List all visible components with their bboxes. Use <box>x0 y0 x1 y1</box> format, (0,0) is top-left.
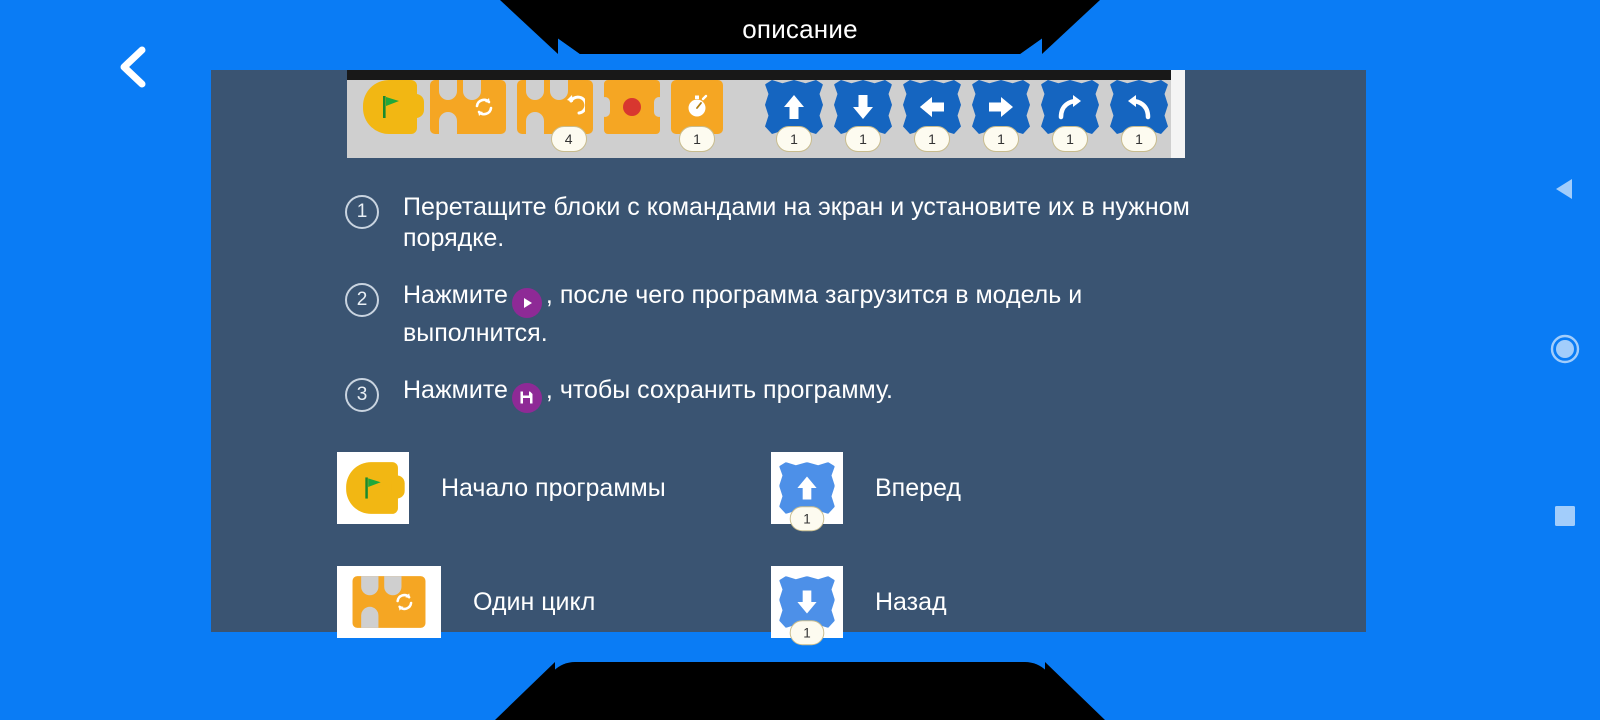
description-panel: 4 <box>211 70 1366 632</box>
palette-move-right-block[interactable]: 1 <box>972 80 1030 134</box>
block-badge: 1 <box>1052 126 1088 152</box>
chevron-left-icon <box>100 36 164 98</box>
legend-card: 1 <box>771 566 843 638</box>
block-badge: 1 <box>790 506 825 531</box>
notch-bottom-wedge-right <box>1045 662 1105 720</box>
palette-timer-block[interactable]: 1 <box>671 80 723 134</box>
step-text-before: Нажмите <box>403 376 508 404</box>
instruction-step: 3 Нажмите, чтобы сохранить программу. <box>345 375 1345 413</box>
green-flag-icon <box>346 462 400 514</box>
legend-label: Начало программы <box>441 474 666 503</box>
step-text-before: Нажмите <box>403 281 508 309</box>
android-navbar <box>1530 0 1600 720</box>
instructions-list: 1 Перетащите блоки с командами на экран … <box>345 192 1345 439</box>
step-text: Нажмите, после чего программа загрузится… <box>403 280 1193 349</box>
triangle-back-icon <box>1552 176 1578 202</box>
loop-cycle-icon <box>430 80 506 134</box>
nav-recents-button[interactable] <box>1553 504 1577 528</box>
nav-home-button[interactable] <box>1550 334 1580 364</box>
loop-repeat-icon <box>517 80 593 134</box>
back-button[interactable] <box>100 36 164 98</box>
legend-move-back-block: 1 <box>779 576 835 628</box>
palette-scrollbar-thumb[interactable] <box>1171 70 1185 158</box>
palette-turn-right-block[interactable]: 1 <box>1041 80 1099 134</box>
block-badge: 1 <box>790 620 825 645</box>
palette-loop-repeat-block[interactable]: 4 <box>517 80 593 134</box>
phone-screen: описание <box>0 0 1600 720</box>
palette-start-flag-block[interactable] <box>363 80 419 134</box>
step-text-after: , чтобы сохранить программу. <box>546 376 893 404</box>
block-badge: 1 <box>983 126 1019 152</box>
legend-card <box>337 452 409 524</box>
play-icon <box>512 288 542 318</box>
legend-start-flag-block <box>346 462 400 514</box>
legend-label: Назад <box>875 588 947 617</box>
palette-scrollbar-track[interactable] <box>347 70 1185 80</box>
legend-label: Вперед <box>875 474 961 503</box>
step-number: 2 <box>345 283 379 317</box>
block-badge: 1 <box>776 126 812 152</box>
green-flag-icon <box>363 80 419 134</box>
notch-bottom-wedge-left <box>495 662 555 720</box>
save-floppy-icon <box>512 383 542 413</box>
legend-item-one-cycle: Один цикл <box>337 566 771 638</box>
palette-loop-forever-block[interactable] <box>430 80 506 134</box>
step-number: 1 <box>345 195 379 229</box>
palette-move-forward-block[interactable]: 1 <box>765 80 823 134</box>
status-notch-bottom <box>545 662 1055 720</box>
step-text: Перетащите блоки с командами на экран и … <box>403 192 1193 254</box>
loop-cycle-icon <box>353 576 426 628</box>
page-title: описание <box>0 14 1600 44</box>
block-badge: 1 <box>679 126 715 152</box>
legend-grid: Начало программы 1 Вперед <box>337 452 1347 638</box>
block-badge: 1 <box>914 126 950 152</box>
blocks-palette[interactable]: 4 <box>347 70 1185 158</box>
legend-move-forward-block: 1 <box>779 462 835 514</box>
nav-back-button[interactable] <box>1552 176 1578 202</box>
instruction-step: 2 Нажмите, после чего программа загрузит… <box>345 280 1345 349</box>
stop-circle-icon <box>604 80 660 134</box>
legend-item-back: 1 Назад <box>771 566 1347 638</box>
legend-item-forward: 1 Вперед <box>771 452 1347 524</box>
block-badge: 1 <box>1121 126 1157 152</box>
palette-stop-block[interactable] <box>604 80 660 134</box>
step-text-main: Перетащите блоки с командами на экран и … <box>403 193 1190 252</box>
circle-home-icon <box>1550 334 1580 364</box>
palette-turn-left-block[interactable]: 1 <box>1110 80 1168 134</box>
step-number: 3 <box>345 378 379 412</box>
block-badge: 1 <box>845 126 881 152</box>
palette-move-back-block[interactable]: 1 <box>834 80 892 134</box>
legend-loop-cycle-block <box>353 576 426 628</box>
palette-move-left-block[interactable]: 1 <box>903 80 961 134</box>
square-recents-icon <box>1553 504 1577 528</box>
step-text: Нажмите, чтобы сохранить программу. <box>403 375 893 413</box>
legend-label: Один цикл <box>473 588 595 617</box>
block-badge: 4 <box>551 126 587 152</box>
legend-card <box>337 566 441 638</box>
instruction-step: 1 Перетащите блоки с командами на экран … <box>345 192 1345 254</box>
legend-card: 1 <box>771 452 843 524</box>
legend-item-start: Начало программы <box>337 452 771 524</box>
